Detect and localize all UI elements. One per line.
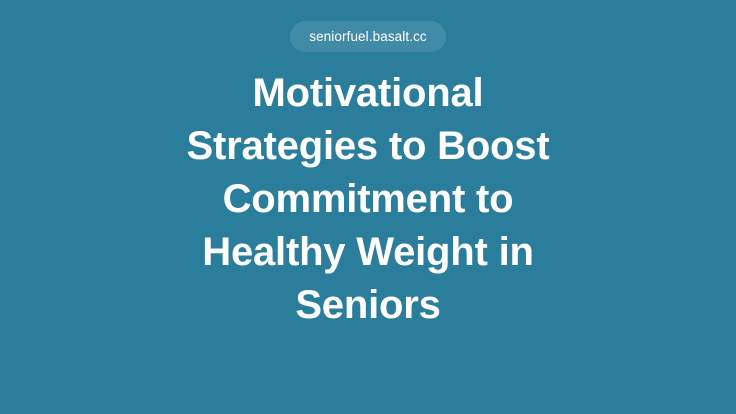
title-block: Motivational Strategies to Boost Commitm… (0, 67, 736, 332)
article-title-card: seniorfuel.basalt.cc Motivational Strate… (0, 0, 736, 414)
page-title: Motivational Strategies to Boost Commitm… (168, 67, 568, 332)
domain-badge[interactable]: seniorfuel.basalt.cc (290, 21, 446, 52)
badge-row: seniorfuel.basalt.cc (0, 21, 736, 52)
